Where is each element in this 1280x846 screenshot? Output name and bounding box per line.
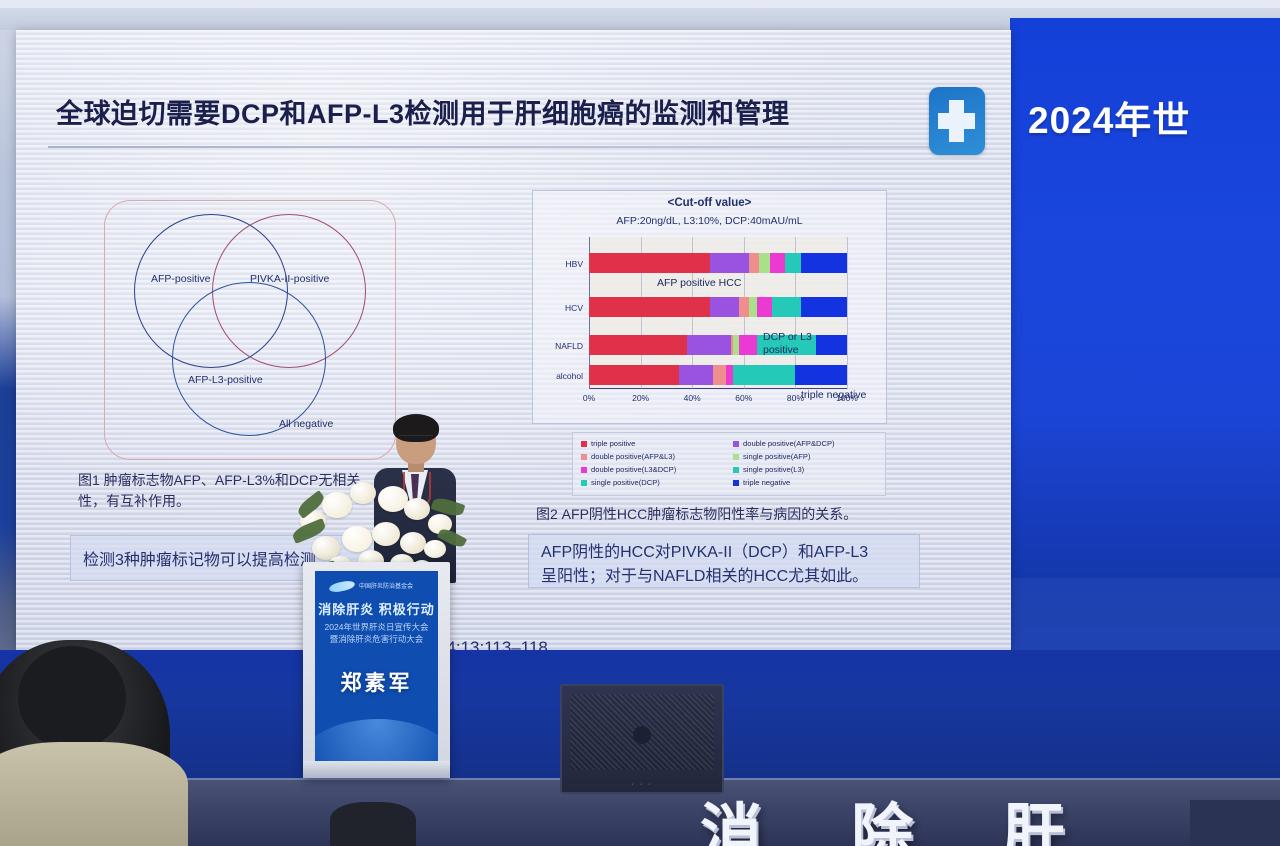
callout-right-line1: AFP阴性的HCC对PIVKA-II（DCP）和AFP-L3 bbox=[541, 544, 868, 561]
chart-bar-segment bbox=[739, 335, 757, 355]
chart-bar-segment bbox=[801, 297, 847, 317]
audience-person-shirt bbox=[0, 742, 188, 846]
chart-y-tick: NAFLD bbox=[537, 341, 583, 351]
title-divider bbox=[48, 146, 983, 148]
legend-swatch bbox=[733, 480, 739, 486]
legend-label: double positive(AFP&L3) bbox=[591, 452, 675, 461]
venn-label-pivka: PIVKA-II-positive bbox=[250, 273, 329, 285]
legend-item: single positive(DCP) bbox=[581, 478, 660, 487]
flower-bloom bbox=[342, 526, 372, 552]
podium-logo-swoosh-icon bbox=[328, 579, 355, 593]
chart-bar-segment bbox=[589, 297, 710, 317]
chart-bar-segment bbox=[749, 297, 757, 317]
flower-bloom bbox=[404, 498, 430, 520]
podium-subtitle-line2: 暨消除肝炎危害行动大会 bbox=[330, 634, 424, 644]
chart-bar-segment bbox=[772, 297, 800, 317]
flower-bloom bbox=[372, 522, 400, 546]
legend-label: single positive(L3) bbox=[743, 465, 804, 474]
chart-bar-segment bbox=[739, 297, 749, 317]
chart-bar-segment bbox=[589, 335, 687, 355]
chart-annotation-afp-positive: AFP positive HCC bbox=[657, 277, 741, 290]
legend-item: triple positive bbox=[581, 439, 635, 448]
chart-bar-segment bbox=[785, 253, 800, 273]
legend-item: double positive(AFP&DCP) bbox=[733, 439, 835, 448]
right-banner-text: 2024年世 bbox=[1028, 90, 1280, 144]
chart-x-tick: 40% bbox=[684, 393, 701, 403]
chart-y-tick: HBV bbox=[537, 259, 583, 269]
chart-bar-segment bbox=[759, 253, 769, 273]
chart-annotation-triple-negative: triple negative bbox=[801, 389, 866, 402]
legend-swatch bbox=[733, 467, 739, 473]
podium-logo-text: 中国肝炎防治基金会 bbox=[359, 581, 413, 590]
chart-bar-segment bbox=[589, 253, 710, 273]
legend-item: single positive(AFP) bbox=[733, 452, 811, 461]
flower-bloom bbox=[400, 532, 426, 554]
legend-label: triple negative bbox=[743, 478, 790, 487]
chart-gridline bbox=[847, 237, 848, 389]
figure2-caption: 图2 AFP阴性HCC肿瘤标志物阳性率与病因的关系。 bbox=[536, 504, 857, 524]
chart-bar bbox=[589, 297, 847, 317]
legend-swatch bbox=[581, 480, 587, 486]
chart-bar-segment bbox=[757, 297, 772, 317]
chart-x-tick: 0% bbox=[583, 393, 595, 403]
callout-right-line2: 呈阳性；对于与NAFLD相关的HCC尤其如此。 bbox=[541, 568, 868, 585]
chart-bar-segment bbox=[733, 365, 795, 385]
chart-bar-segment bbox=[726, 365, 734, 385]
venn-label-all-negative: All negative bbox=[279, 418, 333, 430]
flower-bloom bbox=[350, 482, 376, 504]
monitor-driver bbox=[633, 726, 651, 744]
podium-subtitle: 2024年世界肝炎日宣传大会 暨消除肝炎危害行动大会 bbox=[315, 621, 438, 645]
back-wall-panel bbox=[1190, 800, 1280, 846]
legend-swatch bbox=[733, 441, 739, 447]
stage-monitor-speaker: · · · bbox=[560, 684, 724, 794]
venn-label-afp: AFP-positive bbox=[151, 273, 211, 285]
flower-bloom bbox=[424, 540, 446, 558]
chart-bar-segment bbox=[749, 253, 759, 273]
podium-subtitle-line1: 2024年世界肝炎日宣传大会 bbox=[325, 622, 429, 632]
chart-plot-area bbox=[589, 237, 847, 389]
chart-subtitle: AFP:20ng/dL, L3:10%, DCP:40mAU/mL bbox=[533, 215, 886, 227]
legend-label: triple positive bbox=[591, 439, 635, 448]
chart-x-tick: 60% bbox=[735, 393, 752, 403]
callout-right-text: AFP阴性的HCC对PIVKA-II（DCP）和AFP-L3 呈阳性；对于与NA… bbox=[541, 541, 868, 589]
flower-bloom bbox=[322, 492, 352, 518]
legend-item: single positive(L3) bbox=[733, 465, 804, 474]
chart-annotation-dcp-or-l3: DCP or L3positive bbox=[763, 331, 812, 357]
hospital-cross-stamp-icon bbox=[929, 87, 985, 155]
stage-large-characters-text: 消 除 肝 bbox=[700, 788, 1100, 846]
legend-item: double positive(L3&DCP) bbox=[581, 465, 676, 474]
chart-bar-segment bbox=[710, 297, 738, 317]
podium-speaker-name: 郑素军 bbox=[315, 667, 438, 697]
legend-label: double positive(L3&DCP) bbox=[591, 465, 676, 474]
chart-bar-segment bbox=[795, 365, 847, 385]
chart-y-tick: alcohol bbox=[537, 371, 583, 381]
photo-scene: 2024年世 全球迫切需要DCP和AFP-L3检测用于肝细胞癌的监测和管理 AF… bbox=[0, 0, 1280, 846]
slide-title: 全球迫切需要DCP和AFP-L3检测用于肝细胞癌的监测和管理 bbox=[56, 92, 916, 142]
chart-legend: triple positivedouble positive(AFP&L3)do… bbox=[572, 432, 886, 496]
venn-label-afp-l3: AFP-L3-positive bbox=[188, 374, 263, 386]
podium-base bbox=[303, 761, 450, 778]
chart-bar bbox=[589, 253, 847, 273]
chart-x-tick: 20% bbox=[632, 393, 649, 403]
chart-bar-segment bbox=[713, 365, 726, 385]
monitor-label: · · · bbox=[562, 781, 722, 788]
chart-title: <Cut-off value> bbox=[533, 197, 886, 209]
podium-led-panel: 中国肝炎防治基金会 消除肝炎 积极行动 2024年世界肝炎日宣传大会 暨消除肝炎… bbox=[315, 571, 438, 761]
legend-swatch bbox=[581, 454, 587, 460]
legend-swatch bbox=[581, 467, 587, 473]
callout-right: AFP阴性的HCC对PIVKA-II（DCP）和AFP-L3 呈阳性；对于与NA… bbox=[528, 534, 920, 588]
chart-bar-segment bbox=[687, 335, 731, 355]
chart-bar-segment bbox=[679, 365, 713, 385]
legend-item: triple negative bbox=[733, 478, 790, 487]
venn-circle-afp-l3 bbox=[172, 282, 326, 436]
chart-bar-segment bbox=[770, 253, 785, 273]
legend-label: double positive(AFP&DCP) bbox=[743, 439, 835, 448]
audience-person-head bbox=[18, 646, 126, 750]
chart-bar-segment bbox=[801, 253, 847, 273]
podium-logo: 中国肝炎防治基金会 bbox=[329, 581, 425, 593]
audience-person-2 bbox=[330, 802, 416, 846]
legend-label: single positive(AFP) bbox=[743, 452, 811, 461]
chart-y-tick: HCV bbox=[537, 303, 583, 313]
legend-swatch bbox=[581, 441, 587, 447]
chart-bar-segment bbox=[589, 365, 679, 385]
right-banner: 2024年世 bbox=[1010, 18, 1280, 578]
ceiling-light-strip bbox=[0, 0, 1280, 8]
chart-bar-segment bbox=[710, 253, 749, 273]
podium: 中国肝炎防治基金会 消除肝炎 积极行动 2024年世界肝炎日宣传大会 暨消除肝炎… bbox=[303, 562, 450, 778]
legend-swatch bbox=[733, 454, 739, 460]
chart-bar bbox=[589, 365, 847, 385]
podium-slogan: 消除肝炎 积极行动 bbox=[315, 599, 438, 618]
right-lower-panel bbox=[1010, 578, 1280, 650]
podium-glow bbox=[315, 719, 438, 761]
speaker-glasses-icon bbox=[399, 435, 433, 444]
legend-label: single positive(DCP) bbox=[591, 478, 660, 487]
figure2-chart: <Cut-off value> AFP:20ng/dL, L3:10%, DCP… bbox=[532, 190, 887, 424]
projection-screen: 全球迫切需要DCP和AFP-L3检测用于肝细胞癌的监测和管理 AFP-posit… bbox=[16, 30, 1011, 650]
chart-bar-segment bbox=[816, 335, 847, 355]
legend-item: double positive(AFP&L3) bbox=[581, 452, 675, 461]
